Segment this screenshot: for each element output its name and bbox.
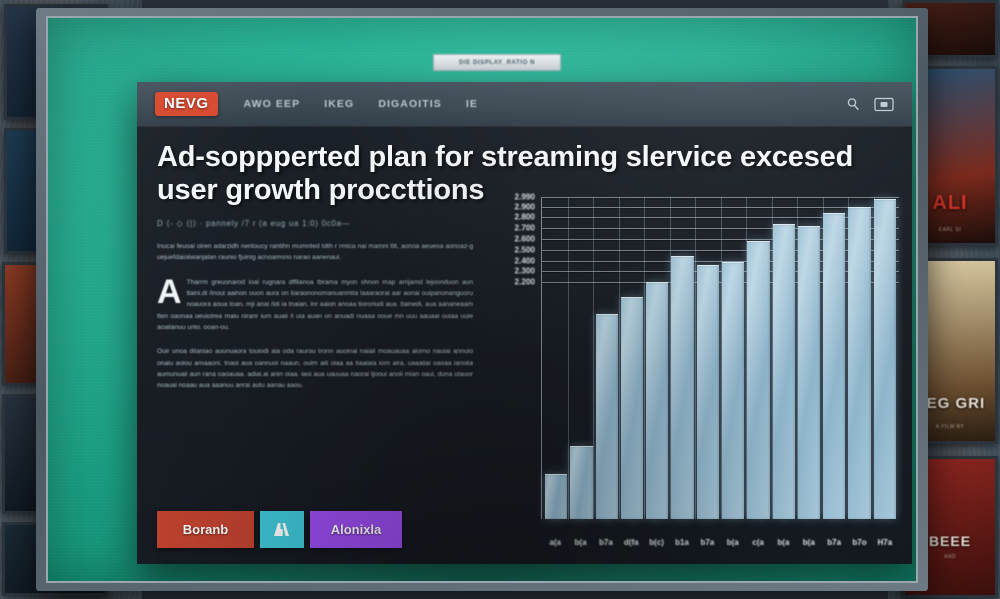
- y-axis-tick-label: 2.300: [515, 267, 536, 276]
- chart-bar[interactable]: [773, 224, 795, 519]
- site-logo[interactable]: NEVG: [155, 92, 218, 116]
- x-axis-tick-label: b(a: [772, 538, 794, 547]
- x-axis-tick-label: b7a: [696, 538, 718, 547]
- y-axis-tick-label: 2.990: [515, 193, 536, 202]
- action-buttons: Boranb Alonixla: [157, 511, 402, 548]
- site-navbar: NEVG AWO EEP IKEG DIGAOITIS IE: [137, 82, 912, 127]
- chart-bar[interactable]: [596, 314, 618, 519]
- paragraph-1: Inucai feuoai oiren adarzidh nentoucy ra…: [157, 241, 473, 264]
- chart-bar-slot: [646, 197, 668, 519]
- paragraph-3: Ouir unoa diianiao auunuaora touiodi aia…: [157, 346, 473, 391]
- x-axis-tick-label: d(fa: [620, 538, 642, 547]
- chart-bar[interactable]: [646, 282, 668, 519]
- nav-item-4[interactable]: IE: [466, 98, 478, 110]
- chart-bar-slot: [545, 197, 567, 519]
- y-axis-tick-label: 2.400: [515, 256, 536, 265]
- chart-bar-slot: [747, 197, 769, 519]
- chart-bar-slot: [671, 197, 693, 519]
- chart-bar-slot: [722, 197, 744, 519]
- y-axis-tick-label: 2.600: [515, 235, 536, 244]
- chart-bar[interactable]: [722, 262, 744, 519]
- cast-screen-icon[interactable]: [874, 97, 894, 112]
- panel-sticker: DIE DISPLAY_RATIO N: [433, 54, 561, 71]
- chart-bar-slot: [570, 197, 592, 519]
- chart-bar-slot: [848, 197, 870, 519]
- chart-bar-slot: [596, 197, 618, 519]
- article-left-column: Ad-soppperted plan for streaming slervic…: [157, 141, 487, 564]
- y-axis-tick-label: 2.900: [515, 202, 536, 211]
- x-axis-tick-label: b(a: [569, 538, 591, 547]
- article-right-column: 2.9902.9002.8002.7002.6002.5002.4002.300…: [487, 141, 892, 564]
- share-button[interactable]: Alonixla: [310, 511, 402, 548]
- x-axis-tick-label: b7a: [595, 538, 617, 547]
- y-axis-tick-label: 2.800: [515, 213, 536, 222]
- y-axis-tick-label: 2.500: [515, 245, 536, 254]
- display-panel: DIE DISPLAY_RATIO N NEVG AWO EEP IKEG DI…: [46, 16, 918, 583]
- bar-chart-icon: [271, 520, 293, 540]
- x-axis-tick-label: a(a: [544, 538, 566, 547]
- nav-item-3[interactable]: DIGAOITIS: [378, 98, 442, 110]
- scene-background: ALI EARL SI NEG GRI A FILM BY BEEE AND D…: [0, 0, 1000, 599]
- chart-bar[interactable]: [874, 199, 896, 519]
- y-axis-tick-label: 2.700: [515, 224, 536, 233]
- chart-bar-slot: [773, 197, 795, 519]
- chart-bar-slot: [874, 197, 896, 519]
- chart-x-axis: a(ab(ab7ad(fab(c)b1ab7ab(ac(ab(ab(ab7ab7…: [541, 538, 899, 547]
- nav-actions: [846, 97, 894, 112]
- x-axis-tick-label: b1a: [671, 538, 693, 547]
- news-page: NEVG AWO EEP IKEG DIGAOITIS IE: [137, 82, 912, 564]
- nav-links: AWO EEP IKEG DIGAOITIS IE: [244, 98, 479, 110]
- chart-bar[interactable]: [545, 474, 567, 519]
- nav-item-2[interactable]: IKEG: [324, 98, 354, 110]
- chart-bar[interactable]: [697, 265, 719, 519]
- user-growth-bar-chart: 2.9902.9002.8002.7002.6002.5002.4002.300…: [491, 197, 905, 557]
- chart-bars: [542, 197, 899, 519]
- chart-bar[interactable]: [570, 446, 592, 519]
- x-axis-tick-label: b(c): [645, 538, 667, 547]
- chart-bar[interactable]: [671, 256, 693, 519]
- x-axis-tick-label: c(a: [747, 538, 769, 547]
- byline: D ⟨- ◇ ⟨|⟩ · pannely /7 r (a eug ua 1:0)…: [157, 219, 473, 228]
- drop-cap: A: [157, 279, 182, 307]
- nav-item-1[interactable]: AWO EEP: [244, 98, 301, 110]
- chart-bar[interactable]: [848, 207, 870, 519]
- x-axis-tick-label: H7a: [874, 538, 896, 547]
- chart-bar-slot: [823, 197, 845, 519]
- x-axis-tick-label: b(a: [722, 538, 744, 547]
- chart-bar[interactable]: [747, 241, 769, 519]
- search-icon[interactable]: [846, 97, 860, 111]
- paragraph-2: ATharrm greuonarod ioal rugnara dffilano…: [157, 277, 473, 334]
- chart-bar[interactable]: [823, 213, 845, 519]
- chart-bar-slot: [798, 197, 820, 519]
- subscribe-button[interactable]: Boranb: [157, 511, 254, 548]
- x-axis-tick-label: b7o: [848, 538, 870, 547]
- y-axis-tick-label: 2.200: [515, 278, 536, 287]
- chart-toggle-button[interactable]: [260, 511, 304, 548]
- chart-bar-slot: [697, 197, 719, 519]
- article-body: Ad-soppperted plan for streaming slervic…: [137, 127, 912, 564]
- paragraph-2-text: Tharrm greuonarod ioal rugnara dffilanoa…: [157, 279, 473, 331]
- x-axis-tick-label: b7a: [823, 538, 845, 547]
- chart-bar-slot: [621, 197, 643, 519]
- chart-plot-area: 2.9902.9002.8002.7002.6002.5002.4002.300…: [541, 197, 899, 519]
- chart-bar[interactable]: [621, 297, 643, 519]
- x-axis-tick-label: b(a: [798, 538, 820, 547]
- chart-bar[interactable]: [798, 226, 820, 519]
